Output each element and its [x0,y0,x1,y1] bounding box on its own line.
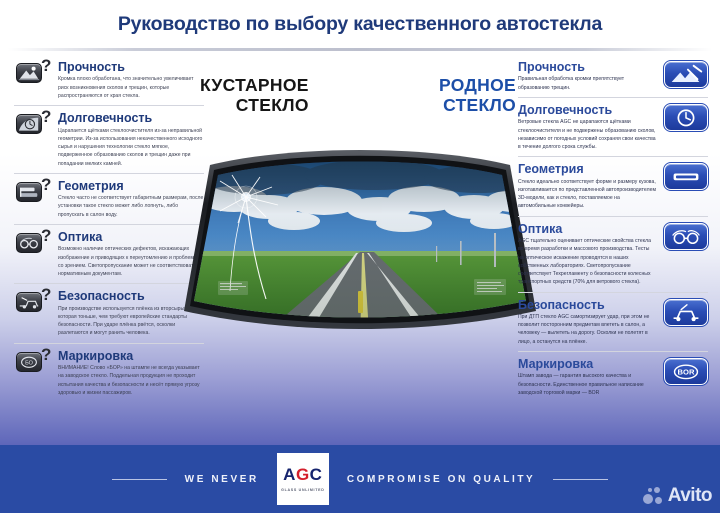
right-feature-geometry: Геометрия Стекло идеально соответствует … [518,156,708,215]
feature-title: Прочность [518,60,656,74]
footer-text-right: COMPROMISE ON QUALITY [347,474,536,485]
feature-title: Геометрия [518,162,656,176]
left-feature-marking: БО ? Маркировка ВНИМАНИЕ! Слово «БОР» на… [14,343,204,402]
footer-rule-right [553,479,608,480]
page-title: Руководство по выбору качественного авто… [118,13,602,36]
bor-stamp-icon: БО [14,351,44,373]
feature-text: Стекло идеально соответствует форме и ра… [518,178,656,211]
left-feature-strength: ? Прочность Кромка плохо обработана, что… [14,55,204,105]
right-feature-marking: BOR Маркировка Штамп завода — гарантия в… [518,351,708,402]
feature-text: Ветровые стекла AGC не царапаются щёткам… [518,118,656,151]
question-mark-badge: ? [41,108,51,125]
feature-title: Маркировка [518,357,656,371]
agc-letter-c: C [310,465,323,484]
agc-letter-g: G [296,465,310,484]
footer-text-left: WE NEVER [185,474,259,485]
title-line-2: СТЕКЛО [200,95,309,115]
right-feature-durability: Долговечность Ветровые стекла AGC не цар… [518,97,708,156]
question-mark-badge: ? [41,286,51,303]
feature-title: Оптика [518,222,656,236]
title-line-1: РОДНОЕ [439,75,516,95]
bor-stamp-icon: BOR [664,358,708,385]
crash-safety-icon [664,299,708,326]
footer-slogan: WE NEVER AGC GLASS UNLIMITED COMPROMISE … [112,453,609,505]
comparison-titles: КУСТАРНОЕ СТЕКЛО РОДНОЕ СТЕКЛО [196,55,524,116]
feature-text: Правильная обработка кромки препятствует… [518,75,656,92]
question-mark-badge: ? [41,176,51,193]
feature-text: AGC тщательно оценивает оптические свойс… [518,237,656,287]
title-aftermarket-glass: КУСТАРНОЕ СТЕКЛО [200,75,309,116]
agc-letter-a: A [283,465,296,484]
svg-text:BOR: BOR [678,368,695,377]
avito-watermark: Avito [643,485,712,507]
agc-logo: AGC GLASS UNLIMITED [277,453,329,505]
hammer-strength-icon [664,61,708,88]
feature-title: Долговечность [58,111,204,125]
right-feature-safety: Безопасность При ДТП стекло AGC самортиз… [518,292,708,351]
glasses-optics-icon [14,232,44,254]
title-original-glass: РОДНОЕ СТЕКЛО [439,75,516,116]
windshield-photo [174,141,546,349]
content-area: ? Прочность Кромка плохо обработана, что… [0,55,720,445]
page-header: Руководство по выбору качественного авто… [0,0,720,48]
crash-safety-icon [14,291,44,313]
right-column-rodnoe: Прочность Правильная обработка кромки пр… [518,55,708,402]
title-line-2: СТЕКЛО [439,95,516,115]
right-feature-strength: Прочность Правильная обработка кромки пр… [518,55,708,97]
feature-title: Прочность [58,60,204,74]
worn-wiper-clock-icon [14,113,44,135]
right-feature-optics: Оптика AGC тщательно оценивает оптически… [518,216,708,292]
feature-text: При ДТП стекло AGC самортизирует удар, п… [518,313,656,346]
agc-logo-tagline: GLASS UNLIMITED [281,488,324,492]
agc-logo-letters: AGC [283,466,322,483]
chipped-glass-icon [14,62,44,84]
feature-title: Долговечность [518,103,656,117]
glasses-optics-icon [664,223,708,250]
feature-text: ВНИМАНИЕ! Слово «БОР» на штампе не всегд… [58,364,204,397]
question-mark-badge: ? [41,227,51,244]
glass-profile-icon [14,181,44,203]
question-mark-badge: ? [41,57,51,74]
title-line-1: КУСТАРНОЕ [200,75,309,95]
header-divider [8,48,712,51]
feature-text: Штамп завода — гарантия высокого качеств… [518,372,656,397]
question-mark-badge: ? [41,346,51,363]
svg-text:БО: БО [25,360,34,366]
avito-label: Avito [668,485,712,507]
glass-geometry-icon [664,163,708,190]
footer-rule-left [112,479,167,480]
feature-title: Безопасность [518,298,656,312]
avito-dots-icon [643,485,665,507]
footer-bar: WE NEVER AGC GLASS UNLIMITED COMPROMISE … [0,445,720,513]
center-panel: КУСТАРНОЕ СТЕКЛО РОДНОЕ СТЕКЛО [196,55,524,445]
feature-title: Маркировка [58,349,204,363]
clock-durability-icon [664,104,708,131]
feature-text: Кромка плохо обработана, что значительно… [58,75,204,100]
